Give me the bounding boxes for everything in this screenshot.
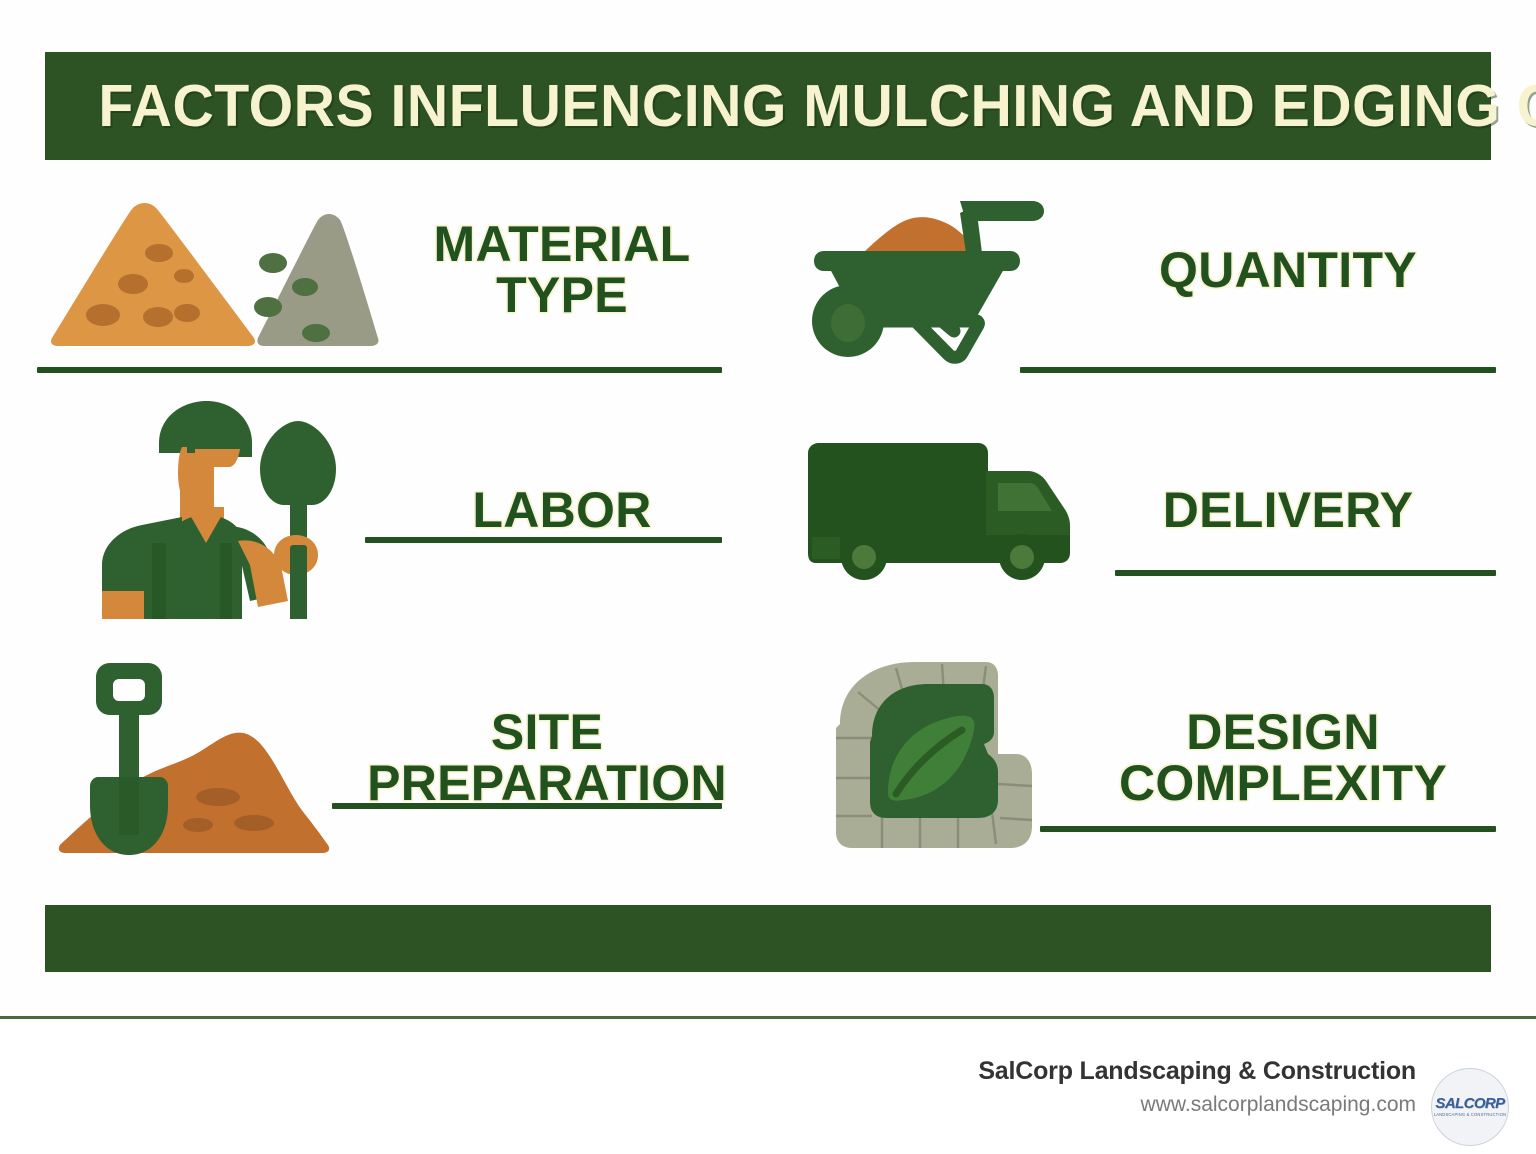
- delivery-truck-icon: [790, 435, 1080, 585]
- factor-label-box: DESIGN COMPLEXITY: [1070, 707, 1496, 809]
- factor-label-labor: LABOR: [472, 485, 651, 536]
- factor-item-design-complexity[interactable]: DESIGN COMPLEXITY: [790, 653, 1496, 863]
- factor-label-box: LABOR: [387, 485, 737, 536]
- title-banner: FACTORS INFLUENCING MULCHING AND EDGING …: [45, 52, 1491, 160]
- factor-item-site-preparation[interactable]: SITE PREPARATION: [37, 653, 737, 863]
- infographic-canvas: FACTORS INFLUENCING MULCHING AND EDGING …: [0, 0, 1536, 1010]
- factor-label-delivery: DELIVERY: [1163, 485, 1414, 536]
- divider-delivery: [1115, 570, 1496, 576]
- footer-website-url[interactable]: www.salcorplandscaping.com: [978, 1093, 1416, 1117]
- divider-labor: [365, 537, 722, 543]
- factor-label-box: DELIVERY: [1080, 485, 1496, 536]
- mulch-piles-icon: [37, 190, 387, 350]
- footer: SalCorp Landscaping & Construction www.s…: [0, 1019, 1536, 1154]
- worker-shovel-icon: [37, 395, 387, 625]
- stone-edging-leaf-icon: [790, 658, 1070, 858]
- factor-label-box: MATERIAL TYPE: [387, 219, 737, 321]
- factor-label-box: SITE PREPARATION: [357, 707, 737, 809]
- factor-item-quantity[interactable]: QUANTITY: [790, 175, 1496, 365]
- factor-item-material-type[interactable]: MATERIAL TYPE: [37, 175, 737, 365]
- logo-tagline: LANDSCAPING & CONSTRUCTION: [1434, 1113, 1507, 1117]
- wheelbarrow-icon: [790, 175, 1080, 365]
- page-title: FACTORS INFLUENCING MULCHING AND EDGING …: [45, 72, 1536, 140]
- factor-item-labor[interactable]: LABOR: [37, 415, 737, 605]
- factor-label-material-type: MATERIAL TYPE: [434, 219, 691, 321]
- factor-item-delivery[interactable]: DELIVERY: [790, 415, 1496, 605]
- logo-wordmark: SALCORP: [1435, 1096, 1504, 1111]
- divider-quantity: [1020, 367, 1496, 373]
- factor-label-site-preparation: SITE PREPARATION: [367, 707, 727, 809]
- factor-label-box: QUANTITY: [1080, 245, 1496, 296]
- factor-label-quantity: QUANTITY: [1159, 245, 1417, 296]
- bottom-accent-bar: [45, 905, 1491, 972]
- shovel-dirt-icon: [37, 653, 357, 863]
- divider-design-complexity: [1040, 826, 1496, 832]
- footer-company-name: SalCorp Landscaping & Construction: [978, 1057, 1416, 1086]
- factor-label-design-complexity: DESIGN COMPLEXITY: [1119, 707, 1447, 809]
- factors-grid: MATERIAL TYPE: [0, 175, 1536, 895]
- divider-site-preparation: [332, 803, 722, 809]
- footer-text-block: SalCorp Landscaping & Construction www.s…: [978, 1057, 1416, 1117]
- salcorp-logo-badge: SALCORP LANDSCAPING & CONSTRUCTION: [1431, 1068, 1509, 1146]
- divider-material-type: [37, 367, 722, 373]
